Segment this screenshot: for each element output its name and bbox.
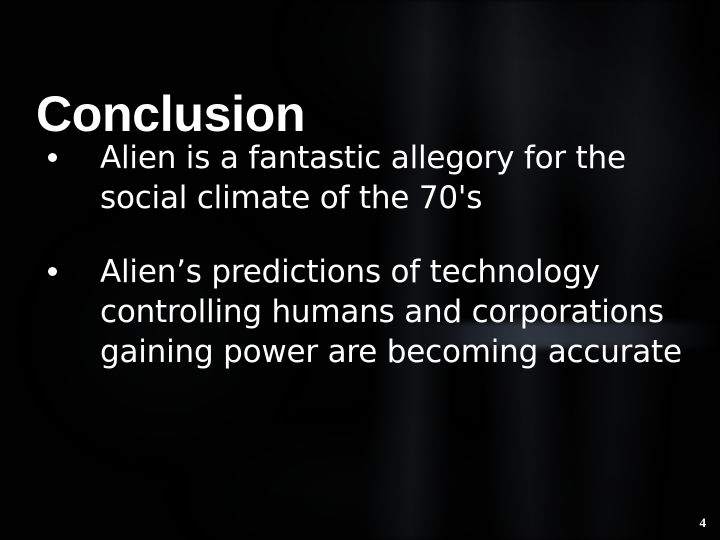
slide-number: 4 — [700, 516, 707, 530]
bullet-dot-icon — [48, 267, 57, 276]
bullet-text: Alien is a fantastic allegory for the so… — [100, 138, 684, 218]
presentation-slide: Conclusion Alien is a fantastic allegory… — [0, 0, 720, 540]
list-item: Alien’s predictions of technology contro… — [36, 252, 684, 372]
slide-title: Conclusion — [36, 86, 676, 142]
bullet-text: Alien’s predictions of technology contro… — [100, 252, 684, 372]
bullet-list: Alien is a fantastic allegory for the so… — [36, 138, 684, 372]
list-item: Alien is a fantastic allegory for the so… — [36, 138, 684, 218]
bullet-dot-icon — [48, 153, 57, 162]
